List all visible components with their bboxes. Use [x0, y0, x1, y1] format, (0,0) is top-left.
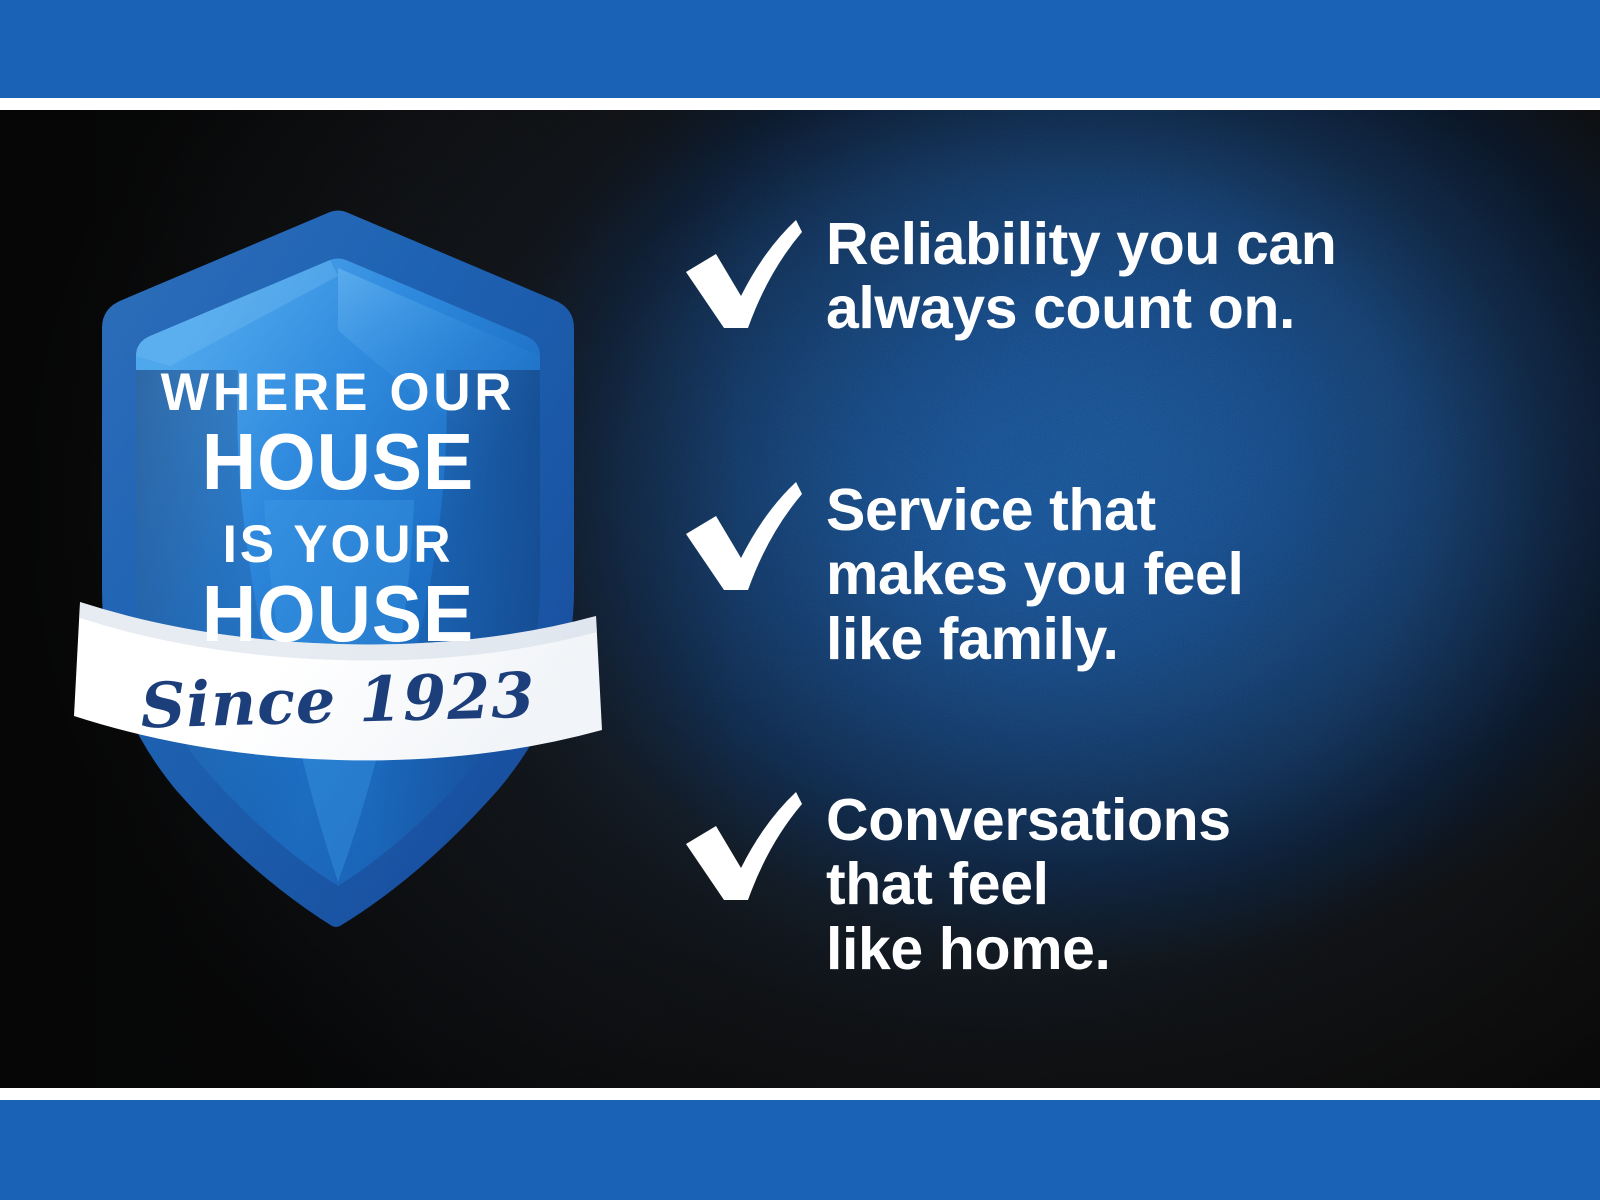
shield-badge: WHERE OUR HOUSE IS YOUR HOUSE Since 1923 — [78, 170, 598, 950]
promo-graphic: WHERE OUR HOUSE IS YOUR HOUSE Since 1923… — [0, 0, 1600, 1200]
top-divider — [0, 98, 1600, 110]
checkmark-icon — [672, 210, 804, 332]
list-item: Conversations that feel like home. — [672, 782, 1231, 981]
list-item-text: Reliability you can always count on. — [826, 210, 1336, 341]
list-item: Reliability you can always count on. — [672, 210, 1336, 341]
checkmark-icon — [672, 782, 804, 904]
benefits-list: Reliability you can always count on. Ser… — [672, 110, 1572, 1088]
top-brand-bar — [0, 0, 1600, 98]
list-item-text: Service that makes you feel like family. — [826, 472, 1243, 671]
bottom-divider — [0, 1088, 1600, 1100]
bottom-brand-bar — [0, 1100, 1600, 1200]
list-item-text: Conversations that feel like home. — [826, 782, 1231, 981]
list-item: Service that makes you feel like family. — [672, 472, 1243, 671]
checkmark-icon — [672, 472, 804, 594]
